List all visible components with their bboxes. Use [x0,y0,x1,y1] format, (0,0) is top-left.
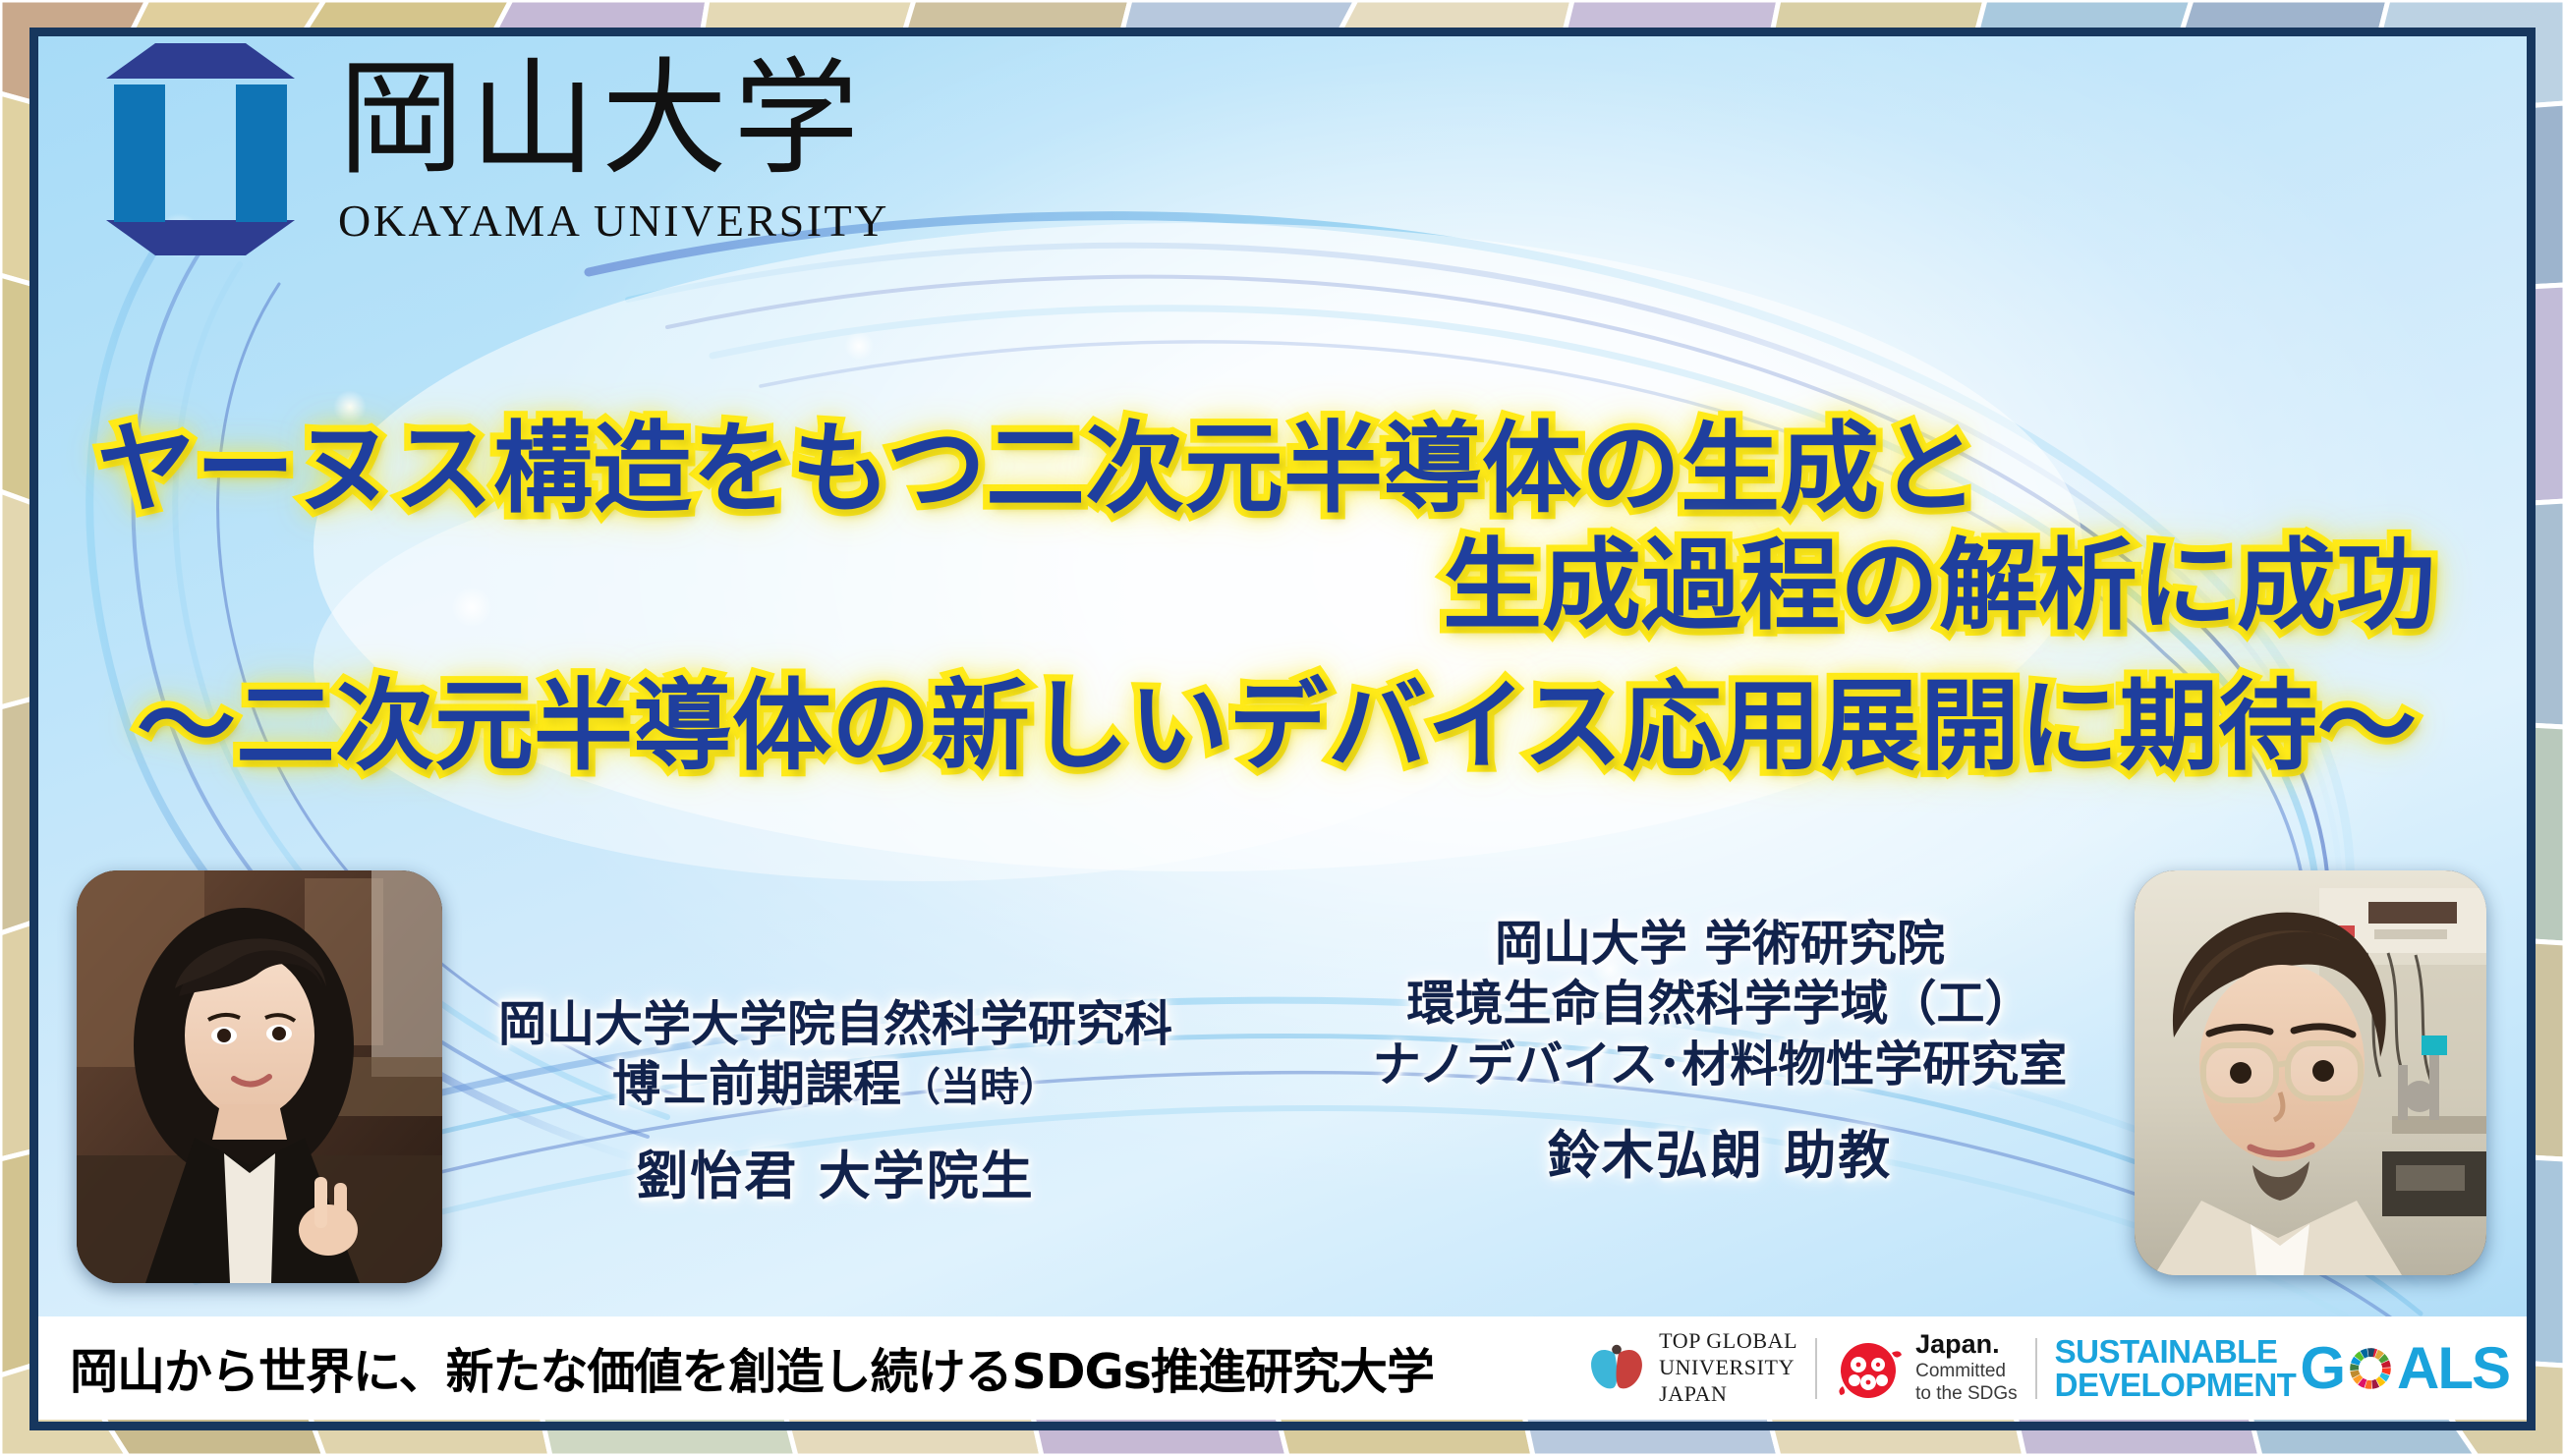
japan-title: Japan. [1915,1330,2018,1360]
tgu-line-3: JAPAN [1659,1381,1797,1408]
japan-sdgs-text: Japan. Committed to the SDGs [1915,1330,2018,1406]
japan-line-1: Committed [1915,1360,2018,1383]
headline-line-3: ～二次元半導体の新しいデバイス応用展開に期待～ [0,668,2565,785]
tgu-line-1: TOP GLOBAL [1659,1328,1797,1355]
sdg-color-wheel-icon [2345,1343,2396,1394]
okayama-gate-mark-icon [96,37,305,263]
logo-sustainable-development-goals: SUSTAINABLE DEVELOPMENT G [2037,1316,2527,1420]
banner-logo-group: TOP GLOBAL UNIVERSITY JAPAN [1568,1316,2527,1420]
poster-root: 岡山大学 OKAYAMA UNIVERSITY ヤーヌス構造をもつ二次元半導体の… [0,0,2565,1456]
researcher-photo-right [2135,870,2486,1275]
tgu-text-block: TOP GLOBAL UNIVERSITY JAPAN [1659,1328,1797,1407]
university-name-jp: 岡山大学 [338,57,889,183]
japan-line-2: to the SDGs [1915,1382,2018,1406]
headline-line-2: 生成過程の解析に成功 [0,528,2565,644]
sdg-goals-g: G [2300,1334,2344,1402]
credit-right-affil-3: ナノデバイス･材料物性学研究室 [1287,1035,2152,1094]
credit-left-name: 劉怡君 大学院生 [393,1145,1278,1209]
sdg-words: SUSTAINABLE DEVELOPMENT [2055,1335,2297,1401]
credit-right-affil-1: 岡山大学 学術研究院 [1287,914,2152,974]
sdg-word-development: DEVELOPMENT [2055,1369,2297,1402]
butterfly-icon [1586,1338,1647,1399]
sdg-goals-als: ALS [2397,1334,2509,1402]
headline-block: ヤーヌス構造をもつ二次元半導体の生成と 生成過程の解析に成功 ～二次元半導体の新… [0,411,2565,786]
tgu-line-2: UNIVERSITY [1659,1355,1797,1381]
headline-line-1: ヤーヌス構造をもつ二次元半導体の生成と [0,411,2565,528]
logo-top-global-university-japan: TOP GLOBAL UNIVERSITY JAPAN [1568,1316,1815,1420]
sparkle-dot [844,331,874,361]
japan-sakura-circle-icon [1835,1333,1906,1404]
sdg-goals-word: G [2300,1334,2509,1402]
credit-right: 岡山大学 学術研究院 環境生命自然科学学域（工） ナノデバイス･材料物性学研究室… [1287,914,2152,1189]
okayama-university-logo: 岡山大学 OKAYAMA UNIVERSITY [96,37,889,263]
credit-right-affil-2: 環境生命自然科学学域（工） [1287,974,2152,1034]
bottom-banner: 岡山から世界に、新たな価値を創造し続けるSDGs推進研究大学 TOP GLOBA… [38,1316,2527,1420]
banner-tagline: 岡山から世界に、新たな価値を創造し続けるSDGs推進研究大学 [70,1333,1434,1403]
sdg-word-sustainable: SUSTAINABLE [2055,1335,2297,1369]
credit-right-name: 鈴木弘朗 助教 [1287,1124,2152,1189]
credit-left-affil-1: 岡山大学大学院自然科学研究科 [393,994,1278,1054]
logo-japan-sdgs: Japan. Committed to the SDGs [1817,1316,2035,1420]
researcher-photo-left [77,870,442,1283]
credit-left-affil-2: 博士前期課程（当時） [393,1054,1278,1114]
university-name-en: OKAYAMA UNIVERSITY [338,195,889,247]
credit-left: 岡山大学大学院自然科学研究科 博士前期課程（当時） 劉怡君 大学院生 [393,994,1278,1209]
